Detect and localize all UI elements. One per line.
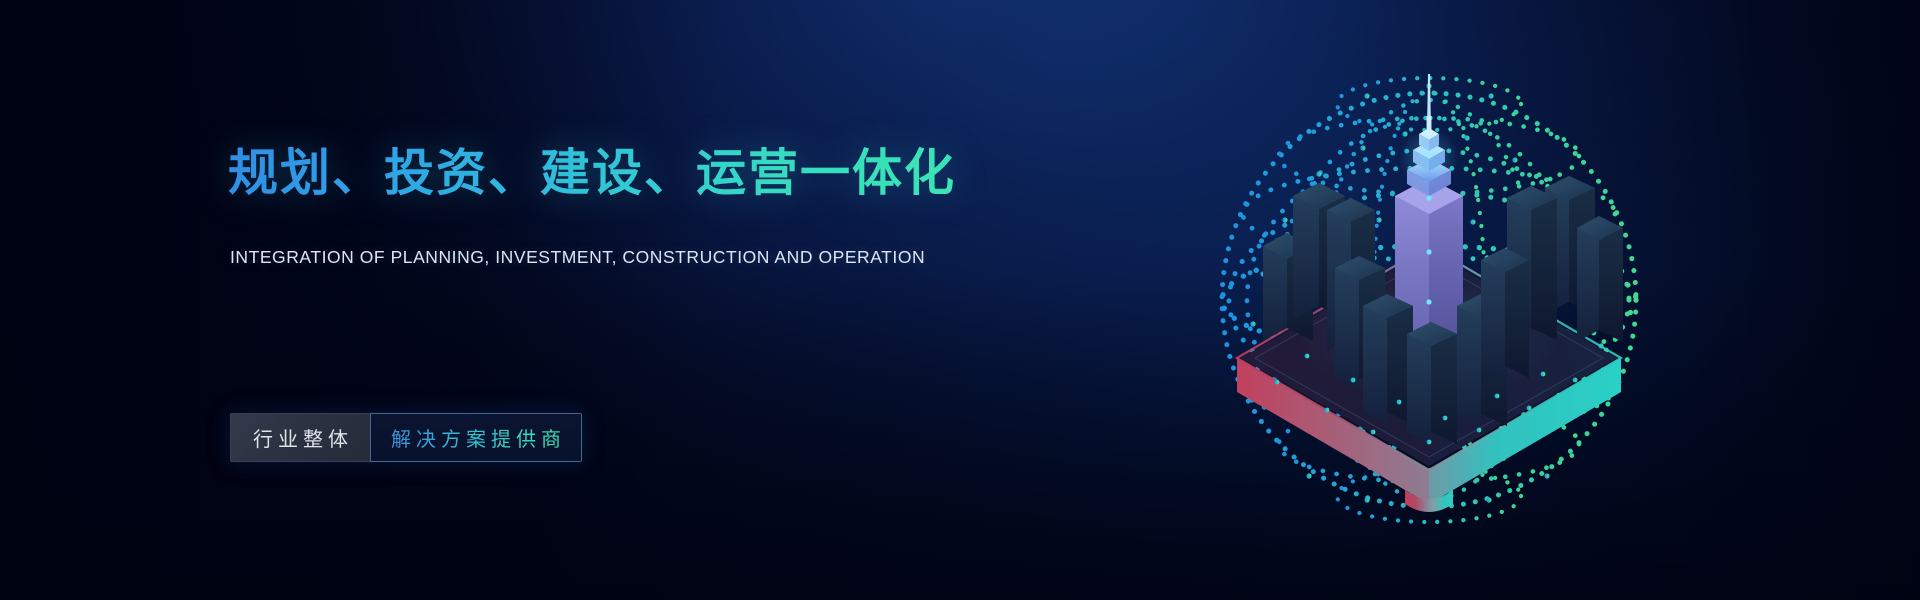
page-title: 规划、投资、建设、运营一体化 xyxy=(228,143,956,204)
page-subtitle: INTEGRATION OF PLANNING, INVESTMENT, CON… xyxy=(230,247,925,268)
hero-banner: 规划、投资、建设、运营一体化 INTEGRATION OF PLANNING, … xyxy=(0,0,1920,600)
badge-left-segment: 行业整体 xyxy=(230,413,370,462)
badge-right-segment: 解决方案提供商 xyxy=(370,413,582,462)
badge-right-label: 解决方案提供商 xyxy=(386,423,566,452)
smart-city-globe-illustration xyxy=(1167,38,1691,562)
tagline-badge: 行业整体 解决方案提供商 xyxy=(230,413,582,462)
banner-copy: 规划、投资、建设、运营一体化 INTEGRATION OF PLANNING, … xyxy=(228,0,1088,600)
